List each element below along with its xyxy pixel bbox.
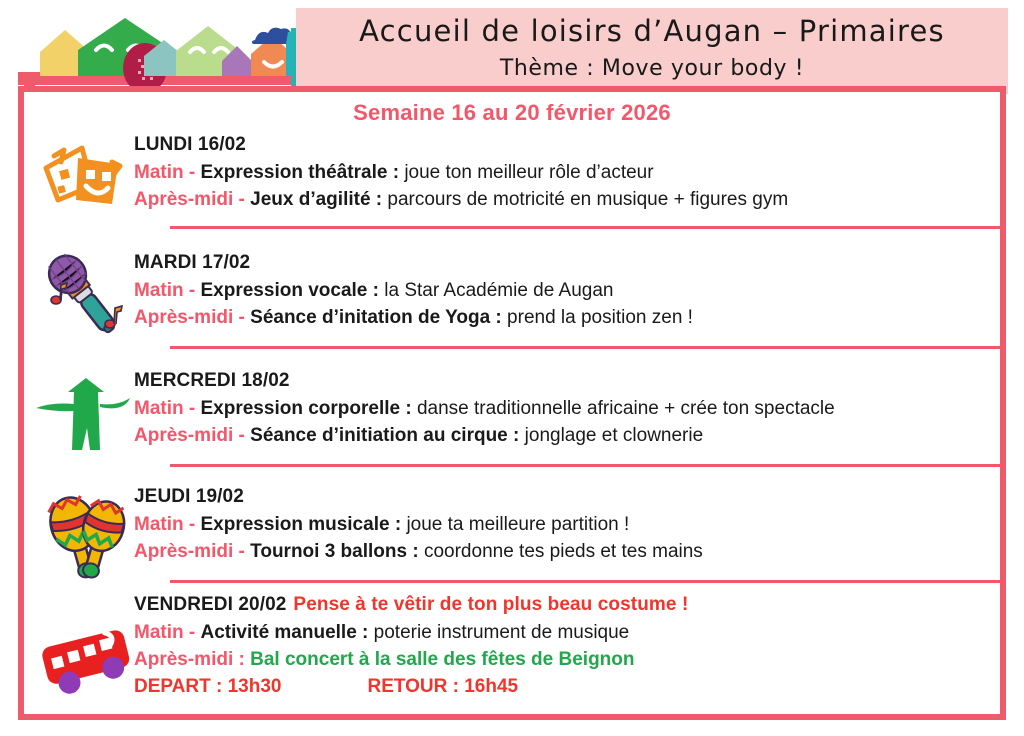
return-time: RETOUR : 16h45 bbox=[367, 676, 518, 697]
slot-title: Expression corporelle : bbox=[201, 398, 412, 419]
page-title: Accueil de loisirs d’Augan – Primaires bbox=[296, 14, 1008, 48]
slot-label: Après-midi - bbox=[134, 307, 245, 328]
theme-subtitle: Thème : Move your body ! bbox=[296, 56, 1008, 81]
slot-morning: Matin - Expression théâtrale : joue ton … bbox=[134, 160, 1002, 187]
slot-label: Matin - bbox=[134, 162, 195, 183]
microphone-icon bbox=[34, 252, 138, 344]
slot-desc: poterie instrument de musique bbox=[374, 622, 630, 643]
day-title: LUNDI 16/02 bbox=[134, 134, 1002, 156]
slot-afternoon: Après-midi - Séance d’initation de Yoga … bbox=[134, 305, 1002, 332]
slot-morning: Matin - Expression vocale : la Star Acad… bbox=[134, 278, 1002, 305]
day-content-vendredi: VENDREDI 20/02Pense à te vêtir de ton pl… bbox=[134, 594, 1002, 698]
day-title: JEUDI 19/02 bbox=[134, 486, 1002, 508]
slot-label: Après-midi - bbox=[134, 189, 245, 210]
departure-time: DEPART : 13h30 bbox=[134, 676, 281, 697]
day-title: VENDREDI 20/02Pense à te vêtir de ton pl… bbox=[134, 594, 1002, 616]
day-content-mercredi: MERCREDI 18/02 Matin - Expression corpor… bbox=[134, 370, 1002, 450]
slot-afternoon: Après-midi - Séance d’initiation au cirq… bbox=[134, 423, 1002, 450]
slot-desc: parcours de motricité en musique + figur… bbox=[387, 189, 788, 210]
day-content-jeudi: JEUDI 19/02 Matin - Expression musicale … bbox=[134, 486, 1002, 566]
slot-title: Séance d’initation de Yoga : bbox=[250, 307, 502, 328]
slot-desc: joue ton meilleur rôle d’acteur bbox=[404, 162, 653, 183]
slot-label: Après-midi : bbox=[134, 649, 245, 670]
slot-title: Bal concert à la salle des fêtes de Beig… bbox=[250, 649, 634, 670]
day-separator bbox=[170, 580, 1000, 583]
slot-label: Matin - bbox=[134, 398, 195, 419]
slot-label: Après-midi - bbox=[134, 541, 245, 562]
day-costume-note: Pense à te vêtir de ton plus beau costum… bbox=[293, 594, 688, 615]
slot-title: Tournoi 3 ballons : bbox=[250, 541, 419, 562]
slot-desc: joue ta meilleure partition ! bbox=[406, 514, 629, 535]
slot-label: Matin - bbox=[134, 280, 195, 301]
slot-title: Jeux d’agilité : bbox=[250, 189, 382, 210]
transport-times: DEPART : 13h30RETOUR : 16h45 bbox=[134, 676, 1002, 698]
day-title: MARDI 17/02 bbox=[134, 252, 1002, 274]
slot-label: Matin - bbox=[134, 514, 195, 535]
slot-desc: danse traditionnelle africaine + crée to… bbox=[417, 398, 835, 419]
slot-desc: jonglage et clownerie bbox=[525, 425, 704, 446]
day-separator bbox=[170, 226, 1000, 229]
slot-label: Matin - bbox=[134, 622, 195, 643]
slot-title: Expression musicale : bbox=[201, 514, 402, 535]
day-separator bbox=[170, 464, 1000, 467]
slot-afternoon: Après-midi - Jeux d’agilité : parcours d… bbox=[134, 187, 1002, 214]
day-separator bbox=[170, 346, 1000, 349]
day-title: MERCREDI 18/02 bbox=[134, 370, 1002, 392]
slot-title: Activité manuelle : bbox=[201, 622, 369, 643]
slot-label: Après-midi - bbox=[134, 425, 245, 446]
day-content-mardi: MARDI 17/02 Matin - Expression vocale : … bbox=[134, 252, 1002, 332]
slot-desc: coordonne tes pieds et tes mains bbox=[424, 541, 703, 562]
slot-afternoon: Après-midi : Bal concert à la salle des … bbox=[134, 647, 1002, 674]
day-content-lundi: LUNDI 16/02 Matin - Expression théâtrale… bbox=[134, 134, 1002, 214]
slot-title: Expression vocale : bbox=[201, 280, 379, 301]
day-title-text: VENDREDI 20/02 bbox=[134, 594, 286, 615]
title-banner: Accueil de loisirs d’Augan – Primaires T… bbox=[296, 8, 1008, 94]
schedule-list: LUNDI 16/02 Matin - Expression théâtrale… bbox=[18, 86, 1006, 720]
slot-desc: prend la position zen ! bbox=[507, 307, 693, 328]
slot-morning: Matin - Expression corporelle : danse tr… bbox=[134, 396, 1002, 423]
slot-title: Expression théâtrale : bbox=[201, 162, 400, 183]
slot-afternoon: Après-midi - Tournoi 3 ballons : coordon… bbox=[134, 539, 1002, 566]
dancing-figure-icon bbox=[34, 370, 138, 462]
slot-morning: Matin - Expression musicale : joue ta me… bbox=[134, 512, 1002, 539]
bus-icon bbox=[34, 612, 138, 704]
slot-desc: la Star Académie de Augan bbox=[384, 280, 613, 301]
slot-title: Séance d’initiation au cirque : bbox=[250, 425, 519, 446]
slot-morning: Matin - Activité manuelle : poterie inst… bbox=[134, 620, 1002, 647]
poster-root: Accueil de loisirs d’Augan – Primaires T… bbox=[0, 0, 1024, 736]
maracas-icon bbox=[34, 486, 138, 578]
theatre-masks-icon bbox=[34, 134, 138, 226]
